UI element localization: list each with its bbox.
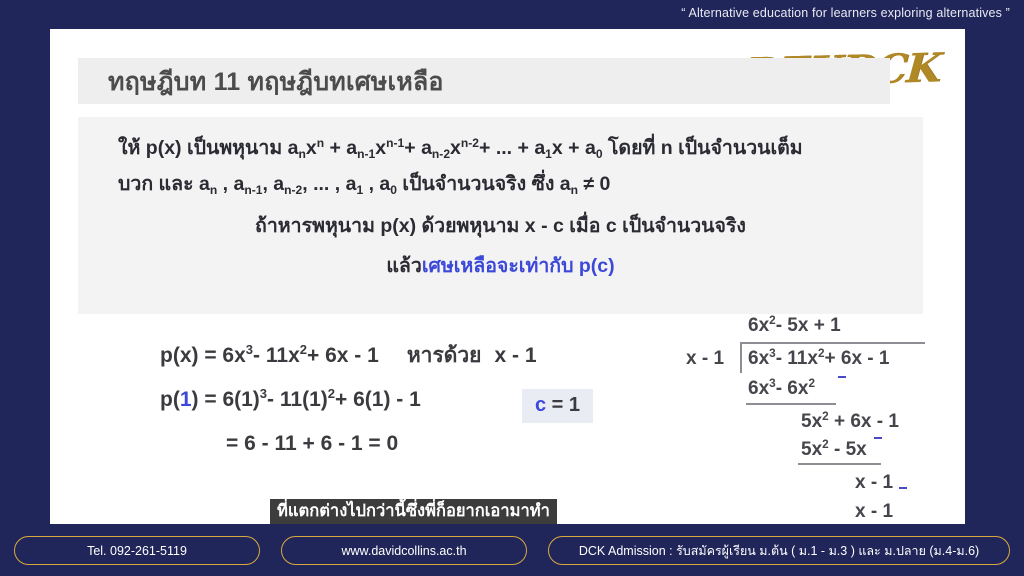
theorem-line-4: แล้วเศษเหลือจะเท่ากับ p(c) — [386, 257, 614, 277]
division-step-2: 5x2 + 6x - 1 — [801, 411, 899, 433]
theorem-l2-sub-6: n — [571, 183, 578, 197]
theorem-l2-part-b: , a — [217, 173, 244, 195]
step3-part-b: - 5x — [829, 439, 867, 460]
dividend-part-b: - 11x — [776, 348, 818, 369]
division-bracket-bar — [740, 342, 925, 344]
example-row-1: p(x) = 6x3- 11x2+ 6x - 1หารด้วยx - 1 — [160, 334, 537, 378]
minus-tick-1 — [838, 376, 846, 378]
quotient-sup: 2 — [769, 314, 776, 327]
minus-tick-3 — [899, 487, 907, 489]
dividend-part-c: + 6x - 1 — [825, 348, 890, 369]
example-r2-sup-1: 3 — [260, 386, 267, 401]
theorem-l1-sub-1: n — [298, 147, 305, 161]
theorem-line-2: บวก และ an , an-1, an-2, ... , a1 , a0 เ… — [118, 175, 610, 195]
example-r1-lhs: p(x) = 6x — [160, 344, 246, 367]
example-r2-part-c: - 11(1) — [267, 388, 328, 411]
c-value-badge: c = 1 — [522, 389, 593, 423]
theorem-line-1: ให้ p(x) เป็นพหุนาม anxn + an-1xn-1+ an-… — [118, 139, 803, 159]
website-pill[interactable]: www.davidcollins.ac.th — [281, 536, 527, 565]
theorem-l2-sub-5: 0 — [390, 183, 397, 197]
theorem-l1-part-h: x + a — [552, 137, 596, 159]
footer-bar: Tel. 092-261-5119 www.davidcollins.ac.th… — [0, 528, 1024, 576]
page-title: ทฤษฎีบท 11 ทฤษฎีบทเศษเหลือ — [108, 62, 444, 102]
theorem-l1-part-c: + a — [324, 137, 357, 159]
step1-part-a: 6x — [748, 378, 769, 399]
example-r1-sup-1: 3 — [246, 342, 253, 357]
step1-sup-2: 2 — [808, 377, 815, 390]
header-tagline: “ Alternative education for learners exp… — [681, 6, 1010, 20]
slide-stage: “ Alternative education for learners exp… — [0, 0, 1024, 576]
theorem-l1-sub-2: n-1 — [357, 147, 375, 161]
theorem-l1-sub-3: n-2 — [432, 147, 450, 161]
division-step-4: x - 1 — [855, 472, 893, 494]
theorem-l2-sub-2: n-1 — [244, 183, 262, 197]
dividend-sup-1: 3 — [769, 347, 776, 360]
caption-block: ที่แตกต่างไปกว่านี้ซึ่งพี่ก็อยากเอามาทำ … — [270, 499, 557, 524]
example-r2-part-b: ) = 6(1) — [192, 388, 260, 411]
theorem-l2-part-g: ≠ 0 — [578, 173, 610, 195]
division-step-3: 5x2 - 5x — [801, 439, 867, 461]
c-badge-value: = 1 — [546, 394, 580, 416]
quotient-part-a: 6x — [748, 315, 769, 336]
phone-pill[interactable]: Tel. 092-261-5119 — [14, 536, 260, 565]
division-divisor: x - 1 — [686, 348, 724, 370]
theorem-l1-sup-3: n-2 — [461, 136, 479, 150]
theorem-l1-part-i: โดยที่ n เป็นจำนวนเต็ม — [603, 137, 803, 159]
theorem-l2-part-a: บวก และ a — [118, 173, 210, 195]
theorem-l1-part-d: x — [375, 137, 386, 159]
step1-sup-1: 3 — [769, 377, 776, 390]
theorem-l1-part-e: + a — [404, 137, 432, 159]
theorem-l1-part-b: x — [306, 137, 317, 159]
theorem-l2-part-f: เป็นจำนวนจริง ซึ่ง a — [397, 173, 571, 195]
theorem-l1-sub-4: 1 — [545, 147, 552, 161]
example-r1-divisor: x - 1 — [494, 344, 536, 367]
example-r1-rhs: + 6x - 1 — [307, 344, 379, 367]
division-dividend: 6x3- 11x2+ 6x - 1 — [748, 348, 889, 370]
theorem-l2-sub-1: n — [210, 183, 217, 197]
example-r1-thai: หารด้วย — [407, 344, 482, 367]
minus-tick-2 — [874, 437, 882, 439]
theorem-l2-part-e: , a — [363, 173, 390, 195]
division-step-5: x - 1 — [855, 501, 893, 523]
caption-line-1: ที่แตกต่างไปกว่านี้ซึ่งพี่ก็อยากเอามาทำ — [270, 499, 557, 524]
slide-panel: DEKDCK ทฤษฎีบท 11 ทฤษฎีบทเศษเหลือ ให้ p(… — [50, 29, 965, 524]
theorem-l2-sub-4: 1 — [356, 183, 363, 197]
step2-part-b: + 6x - 1 — [829, 411, 899, 432]
division-step-1: 6x3- 6x2 — [748, 378, 815, 400]
theorem-l2-sub-3: n-2 — [284, 183, 302, 197]
c-badge-symbol: c — [535, 394, 546, 416]
division-quotient: 6x2- 5x + 1 — [748, 315, 841, 337]
theorem-line-3: ถ้าหารพหุนาม p(x) ด้วยพหุนาม x - c เมื่อ… — [255, 217, 746, 237]
step3-sup: 2 — [822, 438, 829, 451]
theorem-l1-part-a: ให้ p(x) เป็นพหุนาม a — [118, 137, 298, 159]
theorem-l1-sup-2: n-1 — [386, 136, 404, 150]
dividend-sup-2: 2 — [818, 347, 825, 360]
theorem-l4-highlight: เศษเหลือจะเท่ากับ p(c) — [422, 255, 615, 277]
admission-pill[interactable]: DCK Admission : รับสมัครผู้เรียน ม.ต้น (… — [548, 536, 1010, 565]
example-row-3: = 6 - 11 + 6 - 1 = 0 — [160, 422, 537, 466]
dividend-part-a: 6x — [748, 348, 769, 369]
quotient-part-b: - 5x + 1 — [776, 315, 841, 336]
step1-part-b: - 6x — [776, 378, 809, 399]
division-bracket-vertical — [740, 342, 742, 373]
example-r1-mid: - 11x — [253, 344, 300, 367]
division-rule-2 — [798, 463, 881, 465]
example-r2-part-d: + 6(1) - 1 — [335, 388, 421, 411]
step3-part-a: 5x — [801, 439, 822, 460]
theorem-block: ให้ p(x) เป็นพหุนาม anxn + an-1xn-1+ an-… — [78, 117, 923, 314]
example-r2-part-a: p( — [160, 388, 180, 411]
example-row-2: p(1) = 6(1)3- 11(1)2+ 6(1) - 1 — [160, 378, 537, 422]
example-r1-sup-2: 2 — [300, 342, 307, 357]
worked-example: p(x) = 6x3- 11x2+ 6x - 1หารด้วยx - 1 p(1… — [160, 334, 537, 466]
theorem-l4-dark: แล้ว — [386, 255, 421, 277]
theorem-l1-part-g: + ... + a — [479, 137, 545, 159]
example-r2-sup-2: 2 — [328, 386, 335, 401]
theorem-l1-sup-1: n — [317, 136, 324, 150]
theorem-l2-part-c: , a — [262, 173, 284, 195]
step2-part-a: 5x — [801, 411, 822, 432]
theorem-l2-part-d: , ... , a — [302, 173, 356, 195]
example-r2-value: 1 — [180, 388, 192, 411]
theorem-l1-sub-5: 0 — [596, 147, 603, 161]
step2-sup: 2 — [822, 410, 829, 423]
theorem-l1-part-f: x — [450, 137, 461, 159]
division-rule-1 — [746, 403, 836, 405]
